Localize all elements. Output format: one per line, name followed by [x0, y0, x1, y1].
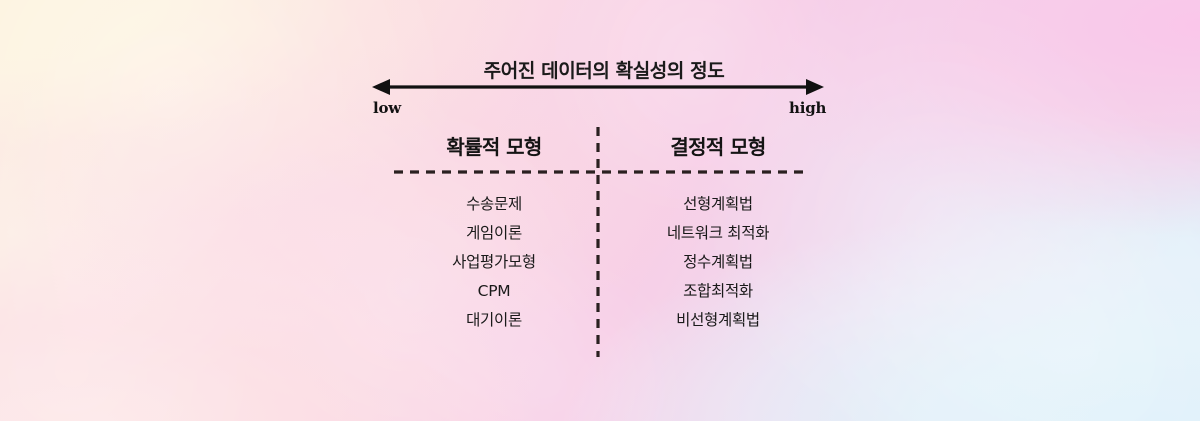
model-list-deterministic: 선형계획법 네트워크 최적화 정수계획법 조합최적화 비선형계획법 [583, 190, 853, 335]
column-heading-stochastic: 확률적 모형 [364, 131, 624, 160]
list-item: 선형계획법 [683, 190, 753, 219]
column-heading-deterministic: 결정적 모형 [588, 131, 848, 160]
scale-low-label: low [373, 99, 401, 117]
list-item: 수송문제 [466, 190, 522, 219]
list-item: 비선형계획법 [676, 306, 760, 335]
double-headed-arrow-icon [370, 76, 826, 98]
dashed-horizontal-rule-icon [394, 170, 808, 174]
scale-high-label: high [789, 99, 826, 117]
diagram-canvas: 주어진 데이터의 확실성의 정도 low high 확률적 모형 결정적 모형 … [0, 0, 1200, 421]
list-item: CPM [478, 277, 511, 306]
list-item: 조합최적화 [683, 277, 753, 306]
list-item: 네트워크 최적화 [667, 219, 769, 248]
list-item: 게임이론 [466, 219, 522, 248]
list-item: 대기이론 [466, 306, 522, 335]
list-item: 정수계획법 [683, 248, 753, 277]
list-item: 사업평가모형 [452, 248, 536, 277]
